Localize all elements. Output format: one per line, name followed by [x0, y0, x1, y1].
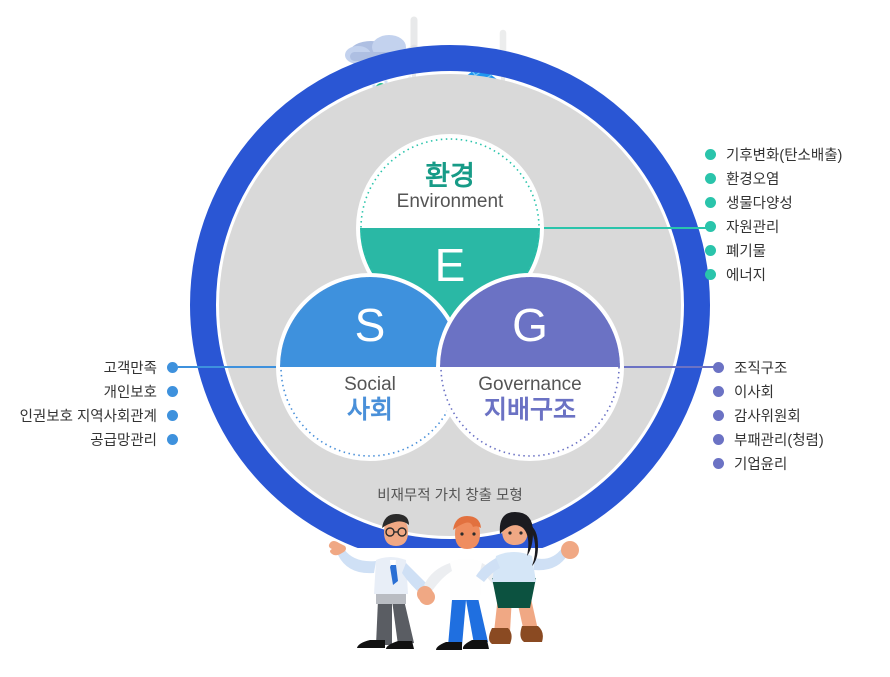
bullet-icon [713, 458, 724, 469]
bullet-icon [167, 434, 178, 445]
governance-circle[interactable] [440, 277, 620, 457]
list-item[interactable]: 자원관리 [705, 214, 842, 238]
list-item[interactable]: 이사회 [713, 379, 824, 403]
list-item[interactable]: 조직구조 [713, 355, 824, 379]
governance-topic-list: 조직구조 이사회 감사위원회 부패관리(청렴) 기업윤리 [713, 355, 824, 475]
bullet-icon [167, 386, 178, 397]
bullet-icon [705, 245, 716, 256]
esg-diagram: 환경 Environment E S Social 사회 G Governanc… [0, 0, 890, 677]
bullet-icon [713, 362, 724, 373]
list-item[interactable]: 에너지 [705, 262, 842, 286]
bullet-icon [713, 410, 724, 421]
list-item[interactable]: 개인보호 [20, 379, 178, 403]
list-item[interactable]: 고객만족 [20, 355, 178, 379]
social-circle[interactable] [280, 277, 460, 457]
bullet-icon [167, 362, 178, 373]
list-item[interactable]: 인권보호 지역사회관계 [20, 403, 178, 427]
bullet-icon [713, 386, 724, 397]
list-item[interactable]: 폐기물 [705, 238, 842, 262]
diagram-canvas [0, 0, 890, 677]
bullet-icon [705, 149, 716, 160]
bullet-icon [705, 221, 716, 232]
list-item[interactable]: 기업윤리 [713, 451, 824, 475]
list-item[interactable]: 공급망관리 [20, 427, 178, 451]
bullet-icon [705, 269, 716, 280]
environment-topic-list: 기후변화(탄소배출) 환경오염 생물다양성 자원관리 폐기물 에너지 [705, 142, 842, 286]
bullet-icon [705, 197, 716, 208]
list-item[interactable]: 환경오염 [705, 166, 842, 190]
social-topic-list: 고객만족 개인보호 인권보호 지역사회관계 공급망관리 [20, 355, 178, 451]
list-item[interactable]: 감사위원회 [713, 403, 824, 427]
list-item[interactable]: 부패관리(청렴) [713, 427, 824, 451]
list-item[interactable]: 기후변화(탄소배출) [705, 142, 842, 166]
bullet-icon [167, 410, 178, 421]
bullet-icon [713, 434, 724, 445]
list-item[interactable]: 생물다양성 [705, 190, 842, 214]
bullet-icon [705, 173, 716, 184]
